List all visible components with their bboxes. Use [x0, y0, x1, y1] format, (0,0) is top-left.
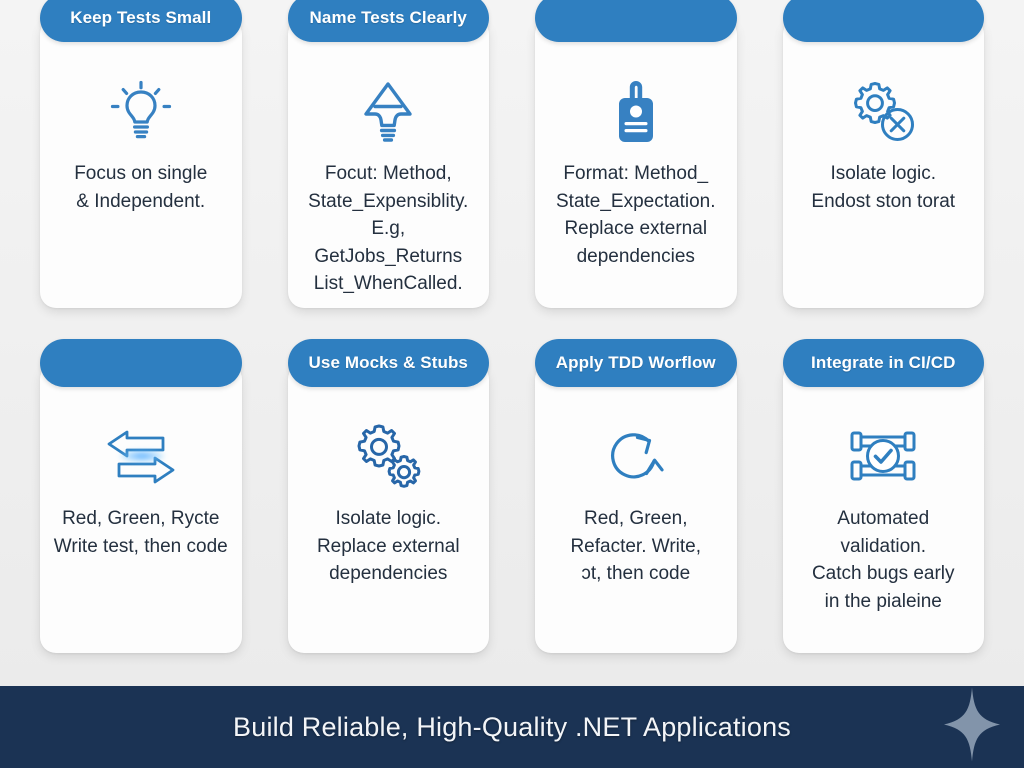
card-header-pill: Apply TDD Worflow: [535, 339, 737, 387]
card-header-pill: [535, 0, 737, 42]
gear-error-icon: [848, 76, 918, 148]
card-header-pill: [783, 0, 985, 42]
card-red-green-refactor[interactable]: Red, Green, Rycte Write test, then code: [40, 363, 242, 653]
card-body-text: Format: Method_ State_Expectation. Repla…: [544, 160, 728, 270]
card-body-text: Focut: Method, State_Expensiblity. E.g, …: [288, 160, 490, 298]
card-name-tests-clearly[interactable]: Name Tests Clearly Focut: Method, State_…: [288, 18, 490, 308]
card-title: Use Mocks & Stubs: [309, 353, 468, 373]
card-body-text: Red, Green, Refacter. Write, ɔt, then co…: [558, 505, 713, 588]
card-body-text: Automated validation. Catch bugs early i…: [783, 505, 985, 615]
footer-title: Build Reliable, High-Quality .NET Applic…: [233, 712, 791, 743]
idea-bulb-arrow-icon: [355, 76, 421, 148]
cards-grid: Keep Tests Small Focus on single & Indep…: [0, 0, 1024, 686]
gears-icon: [353, 421, 423, 493]
footer-banner: Build Reliable, High-Quality .NET Applic…: [0, 686, 1024, 768]
card-title: Apply TDD Worflow: [556, 353, 716, 373]
card-header-pill: Name Tests Clearly: [288, 0, 490, 42]
card-body-text: Isolate logic. Replace external dependen…: [305, 505, 472, 588]
tag-label-icon: [605, 76, 667, 148]
card-title: Name Tests Clearly: [310, 8, 467, 28]
swap-arrows-icon: [97, 421, 185, 493]
card-keep-tests-small[interactable]: Keep Tests Small Focus on single & Indep…: [40, 18, 242, 308]
card-body-text: Isolate logic. Endost ston torat: [799, 160, 967, 215]
card-body-text: Focus on single & Independent.: [62, 160, 219, 215]
card-apply-tdd-workflow[interactable]: Apply TDD Worflow Red, Green, Refacter. …: [535, 363, 737, 653]
card-format-method[interactable]: Format: Method_ State_Expectation. Repla…: [535, 18, 737, 308]
card-integrate-ci-cd[interactable]: Integrate in CI/CD Automated validation.…: [783, 363, 985, 653]
refresh-cycle-icon: [604, 421, 668, 493]
card-use-mocks-stubs[interactable]: Use Mocks & Stubs Isolate logic. Replace…: [288, 363, 490, 653]
card-header-pill: Keep Tests Small: [40, 0, 242, 42]
lightbulb-icon: [108, 76, 174, 148]
card-body-text: Red, Green, Rycte Write test, then code: [42, 505, 240, 560]
sparkle-star-icon: [944, 688, 1000, 767]
card-header-pill: [40, 339, 242, 387]
pipeline-check-icon: [849, 421, 917, 493]
card-title: Keep Tests Small: [70, 8, 211, 28]
card-isolate-logic-error[interactable]: Isolate logic. Endost ston torat: [783, 18, 985, 308]
card-header-pill: Integrate in CI/CD: [783, 339, 985, 387]
card-title: Integrate in CI/CD: [811, 353, 955, 373]
card-header-pill: Use Mocks & Stubs: [288, 339, 490, 387]
